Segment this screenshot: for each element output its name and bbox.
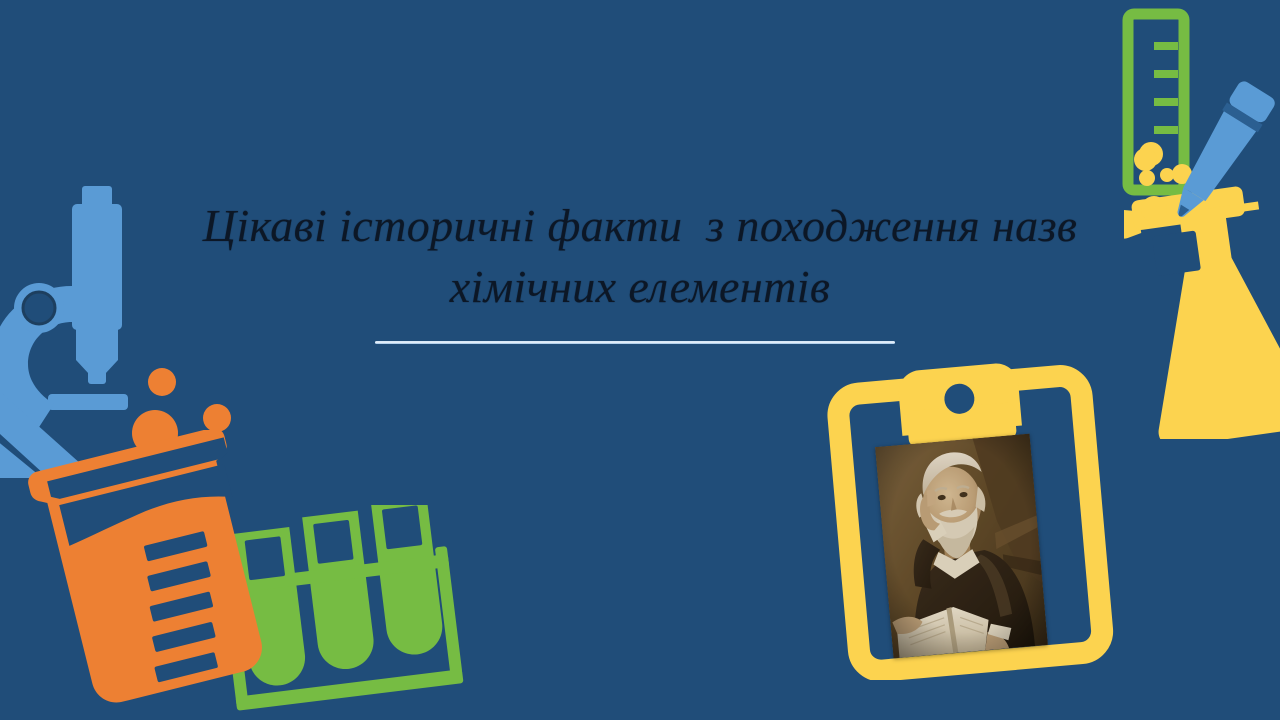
page-title: Цікаві історичні факти з походження назв…: [185, 196, 1095, 317]
title-slide: Цікаві історичні факти з походження назв…: [0, 0, 1280, 720]
beaker-icon: [28, 430, 298, 710]
bubble-orange-1: [148, 368, 176, 396]
pencil-icon: [1155, 78, 1280, 228]
title-block: Цікаві історичні факти з походження назв…: [185, 196, 1095, 317]
bubble-yellow-1: [1134, 148, 1157, 171]
bubble-orange-3: [203, 404, 231, 432]
title-divider: [375, 341, 895, 344]
portrait-photo: [875, 434, 1048, 659]
